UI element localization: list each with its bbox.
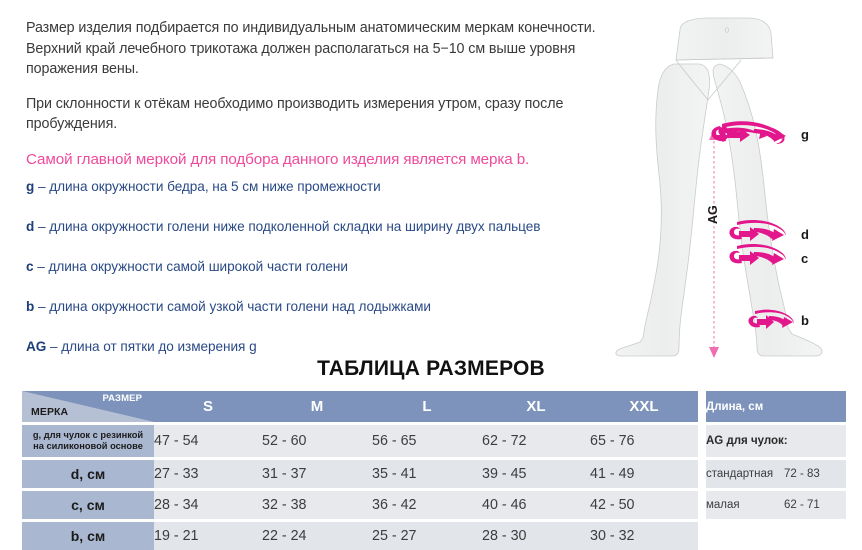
measure-key-b: b — [26, 299, 34, 314]
cell-b-xl: 28 - 30 — [482, 522, 590, 550]
row-label-b: b, см — [22, 522, 154, 550]
measure-dash-c: – — [37, 259, 45, 274]
intro-paragraph-2: При склонности к отёкам необходимо произ… — [26, 94, 606, 135]
corner-measure-label: МЕРКА — [31, 406, 68, 418]
row-label-g-line2: на силиконовой основе — [33, 441, 143, 451]
measure-text-c: длина окружности самой широкой части гол… — [49, 259, 348, 274]
length-chart-table: Длина, см AG для чулок: стандартная 72 -… — [706, 391, 846, 519]
cell-d-xl: 39 - 45 — [482, 460, 590, 488]
figure-label-b: b — [801, 313, 809, 328]
measure-key-d: d — [26, 219, 34, 234]
measurement-definitions-list: g – длина окружности бедра, на 5 см ниже… — [26, 178, 626, 355]
table-header-row: РАЗМЕР МЕРКА S M L XL XXL — [22, 391, 698, 422]
figure-label-ag: AG — [706, 205, 720, 224]
measure-text-d: длина окружности голени ниже подколенной… — [49, 219, 540, 234]
table-row: b, см 19 - 21 22 - 24 25 - 27 28 - 30 30… — [22, 522, 698, 550]
left-leg-shape — [616, 64, 710, 356]
measure-text-ag: длина от пятки до измерения g — [61, 339, 256, 354]
figure-label-g: g — [801, 127, 809, 142]
table-row: c, см 28 - 34 32 - 38 36 - 42 40 - 46 42… — [22, 491, 698, 519]
column-header-l: L — [372, 391, 482, 422]
measure-text-g: длина окружности бедра, на 5 см ниже про… — [49, 179, 380, 194]
column-header-xxl: XXL — [590, 391, 698, 422]
measure-definition-ag: AG – длина от пятки до измерения g — [26, 338, 626, 355]
cell-d-s: 27 - 33 — [154, 460, 262, 488]
measure-dash-b: – — [38, 299, 46, 314]
column-header-xl: XL — [482, 391, 590, 422]
length-name-small: малая — [706, 491, 784, 519]
table-row: g, для чулок с резинкой на силиконовой о… — [22, 425, 698, 457]
cell-b-m: 22 - 24 — [262, 522, 372, 550]
size-chart-table: РАЗМЕР МЕРКА S M L XL XXL g, для чулок с… — [22, 391, 698, 550]
intro-highlight-note: Самой главной меркой для подбора данного… — [26, 149, 606, 170]
cell-g-l: 56 - 65 — [372, 425, 482, 457]
measure-key-g: g — [26, 179, 34, 194]
cell-g-xxl: 65 - 76 — [590, 425, 698, 457]
cell-b-xxl: 30 - 32 — [590, 522, 698, 550]
length-header-cell: Длина, см — [706, 391, 846, 422]
length-row-small: малая 62 - 71 — [706, 491, 846, 519]
leg-measurement-diagram: g d c b AG — [596, 8, 862, 360]
length-row-standard: стандартная 72 - 83 — [706, 460, 846, 488]
row-label-c: c, см — [22, 491, 154, 519]
cell-d-xxl: 41 - 49 — [590, 460, 698, 488]
length-subtitle-row: AG для чулок: — [706, 425, 846, 457]
measure-dash-ag: – — [50, 339, 58, 354]
torso-shape — [676, 18, 773, 60]
intro-paragraph-1: Размер изделия подбирается по индивидуал… — [26, 18, 606, 80]
cell-c-s: 28 - 34 — [154, 491, 262, 519]
figure-label-c: c — [801, 251, 808, 266]
cell-b-l: 25 - 27 — [372, 522, 482, 550]
column-header-m: M — [262, 391, 372, 422]
corner-size-label: РАЗМЕР — [103, 393, 143, 404]
measure-text-b: длина окружности самой узкой части голен… — [49, 299, 431, 314]
length-subtitle-cell: AG для чулок: — [706, 425, 846, 457]
measure-dash-g: – — [38, 179, 46, 194]
column-header-s: S — [154, 391, 262, 422]
row-label-d: d, см — [22, 460, 154, 488]
measure-definition-b: b – длина окружности самой узкой части г… — [26, 298, 626, 315]
length-value-standard: 72 - 83 — [784, 460, 846, 488]
measure-definition-c: c – длина окружности самой широкой части… — [26, 258, 626, 275]
length-value-small: 62 - 71 — [784, 491, 846, 519]
length-name-standard: стандартная — [706, 460, 784, 488]
cell-g-s: 47 - 54 — [154, 425, 262, 457]
cell-c-xl: 40 - 46 — [482, 491, 590, 519]
measure-dash-d: – — [38, 219, 46, 234]
intro-text-block: Размер изделия подбирается по индивидуал… — [26, 18, 606, 170]
header-corner-cell: РАЗМЕР МЕРКА — [22, 391, 154, 422]
cell-g-m: 52 - 60 — [262, 425, 372, 457]
cell-c-l: 36 - 42 — [372, 491, 482, 519]
female-legs-illustration — [596, 8, 862, 360]
figure-label-d: d — [801, 227, 809, 242]
cell-d-m: 31 - 37 — [262, 460, 372, 488]
measure-key-c: c — [26, 259, 34, 274]
measure-key-ag: AG — [26, 339, 46, 354]
page-title: ТАБЛИЦА РАЗМЕРОВ — [0, 357, 862, 381]
cell-d-l: 35 - 41 — [372, 460, 482, 488]
measure-definition-d: d – длина окружности голени ниже подколе… — [26, 218, 626, 235]
measure-definition-g: g – длина окружности бедра, на 5 см ниже… — [26, 178, 626, 195]
cell-c-m: 32 - 38 — [262, 491, 372, 519]
cell-b-s: 19 - 21 — [154, 522, 262, 550]
row-label-g: g, для чулок с резинкой на силиконовой о… — [22, 425, 154, 457]
row-label-g-line1: g, для чулок с резинкой — [33, 430, 143, 440]
cell-g-xl: 62 - 72 — [482, 425, 590, 457]
length-header-row: Длина, см — [706, 391, 846, 422]
cell-c-xxl: 42 - 50 — [590, 491, 698, 519]
table-row: d, см 27 - 33 31 - 37 35 - 41 39 - 45 41… — [22, 460, 698, 488]
